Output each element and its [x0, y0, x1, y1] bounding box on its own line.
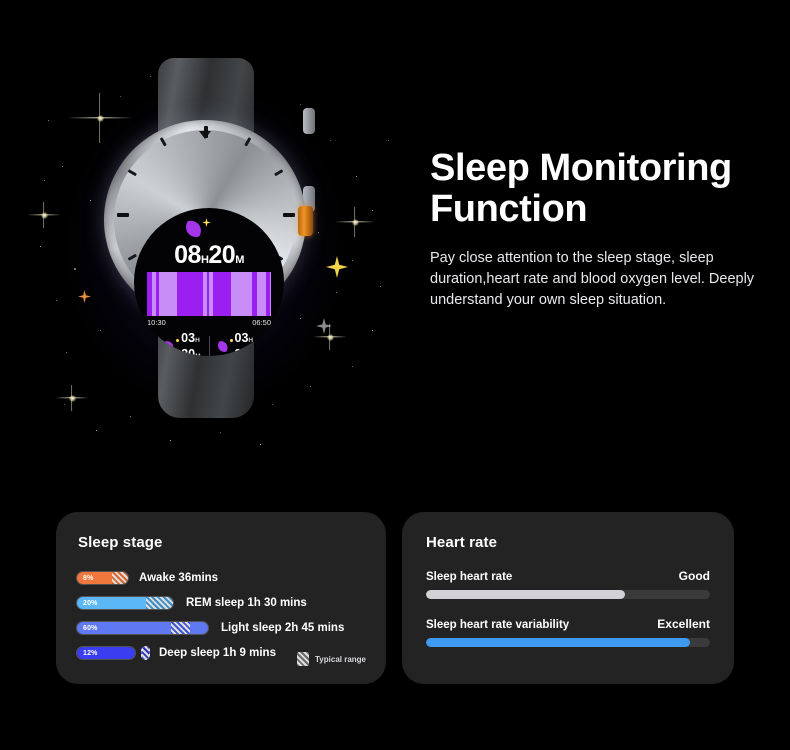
sleep-stage-bar: 20% — [76, 596, 174, 610]
metric-name: Sleep heart rate — [426, 571, 512, 583]
star — [170, 440, 171, 441]
sleep-stage-fill: 60% — [77, 622, 171, 634]
sleep-stage-label: Deep sleep 1h 9 mins — [159, 647, 276, 659]
metric-track — [426, 638, 710, 647]
total-sleep-time: 08H20M — [134, 241, 284, 270]
hero-copy: Sleep Monitoring Function Pay close atte… — [430, 148, 775, 311]
hypnogram-chart — [147, 272, 271, 316]
sleep-stage-bar: 8% — [76, 571, 129, 585]
metric-fill — [426, 638, 690, 647]
legend-label: Typical range — [315, 655, 366, 664]
bezel-tick — [204, 126, 208, 138]
typical-range-hatch — [141, 646, 150, 660]
stat-minutes-unit: M — [248, 353, 253, 356]
heart-rate-metric: Sleep heart rateGood — [426, 569, 710, 599]
sleep-end-time: 06:50 — [252, 318, 271, 327]
sleep-stage-fill: 20% — [77, 597, 146, 609]
typical-range-hatch — [146, 597, 173, 609]
sleep-stage-fill: 12% — [77, 647, 135, 659]
total-sleep-minutes-unit: M — [235, 254, 244, 266]
sleep-stage-fill: 8% — [77, 572, 112, 584]
sleep-stage-row: 20%REM sleep 1h 30 mins — [76, 592, 386, 614]
star — [352, 366, 353, 367]
sleep-stage-bar: 60% — [76, 621, 209, 635]
sleep-stage-card: Sleep stage 8%Awake 36mins20%REM sleep 1… — [56, 512, 386, 684]
sleep-stage-label: REM sleep 1h 30 mins — [186, 597, 307, 609]
hatch-swatch-icon — [297, 652, 309, 666]
star — [260, 444, 261, 445]
stat-divider — [209, 336, 210, 356]
total-sleep-minutes: 20 — [208, 241, 235, 269]
stat-hours: 03 — [181, 331, 195, 345]
hypnogram-segment — [182, 272, 203, 316]
metric-value: Good — [679, 569, 710, 583]
watch-side-lug — [303, 108, 315, 134]
star — [380, 286, 381, 287]
star — [352, 260, 353, 261]
sleep-stage-row: 8%Awake 36mins — [76, 567, 386, 589]
stat-minutes: 20 — [235, 347, 249, 356]
metric-header: Sleep heart rateGood — [426, 569, 710, 583]
stat-hours-unit: H — [248, 337, 253, 344]
crescent-moon-icon — [164, 339, 178, 353]
star — [56, 300, 57, 301]
metric-name: Sleep heart rate variability — [426, 619, 569, 631]
star — [66, 352, 67, 353]
watch-screen[interactable]: 08H20M 10:30 06:50 03H 20M — [134, 208, 284, 356]
hypnogram-segment — [270, 272, 271, 316]
star — [40, 246, 41, 247]
sleep-stage-bar: 12% — [76, 646, 136, 660]
sleep-stage-fill-tail — [190, 622, 208, 634]
star — [330, 140, 331, 141]
star — [372, 210, 373, 211]
metric-header: Sleep heart rate variabilityExcellent — [426, 617, 710, 631]
crescent-moon-icon — [186, 217, 208, 239]
watch-case: 08H20M 10:30 06:50 03H 20M — [104, 120, 306, 320]
hero-section: 08H20M 10:30 06:50 03H 20M — [0, 0, 790, 490]
star — [96, 430, 97, 431]
sleep-stage-row: 60%Light sleep 2h 45 mins — [76, 617, 386, 639]
sleep-stage-title: Sleep stage — [78, 534, 386, 551]
page-title: Sleep Monitoring Function — [430, 148, 775, 230]
heart-rate-metric: Sleep heart rate variabilityExcellent — [426, 617, 710, 647]
typical-range-hatch — [171, 622, 191, 634]
typical-range-hatch — [112, 572, 128, 584]
crescent-moon-icon — [218, 339, 232, 353]
metric-fill — [426, 590, 625, 599]
watch-sleep-stats: 03H 20M 03H 20M — [142, 330, 276, 356]
total-sleep-hours: 08 — [174, 241, 201, 269]
metric-track — [426, 590, 710, 599]
sleep-start-time: 10:30 — [147, 318, 166, 327]
hypnogram-axis: 10:30 06:50 — [147, 318, 271, 327]
hypnogram-segment — [159, 272, 176, 316]
hypnogram-segment — [235, 272, 252, 316]
stat-hours: 03 — [235, 331, 249, 345]
stat-minutes-unit: M — [195, 353, 200, 356]
sleep-stage-label: Awake 36mins — [139, 572, 218, 584]
bezel-tick — [283, 213, 295, 217]
stat-hours-unit: H — [195, 337, 200, 344]
star — [74, 268, 76, 270]
metric-value: Excellent — [657, 617, 710, 631]
heart-rate-title: Heart rate — [426, 534, 734, 551]
sleep-stage-percent: 60% — [77, 625, 98, 632]
bezel-tick — [117, 213, 129, 217]
sleep-stage-percent: 8% — [77, 575, 94, 582]
sleep-stage-list: 8%Awake 36mins20%REM sleep 1h 30 mins60%… — [76, 567, 386, 664]
heart-rate-metric-list: Sleep heart rateGoodSleep heart rate var… — [402, 569, 734, 647]
typical-range-legend: Typical range — [297, 652, 366, 666]
sleep-stage-percent: 12% — [77, 650, 98, 657]
hypnogram-segment — [257, 272, 266, 316]
page-description: Pay close attention to the sleep stage, … — [430, 248, 775, 311]
smartwatch: 08H20M 10:30 06:50 03H 20M — [100, 58, 310, 418]
hypnogram-segment — [216, 272, 231, 316]
star — [388, 140, 389, 141]
sleep-stage-percent: 20% — [77, 600, 98, 607]
watch-stat-item: 03H 20M — [218, 330, 254, 356]
star — [62, 166, 63, 167]
stat-minutes: 20 — [181, 347, 195, 356]
watch-stat-item: 03H 20M — [164, 330, 200, 356]
watch-crown-button[interactable] — [298, 206, 313, 236]
sleep-stage-label: Light sleep 2h 45 mins — [221, 622, 344, 634]
heart-rate-card: Heart rate Sleep heart rateGoodSleep hea… — [402, 512, 734, 684]
